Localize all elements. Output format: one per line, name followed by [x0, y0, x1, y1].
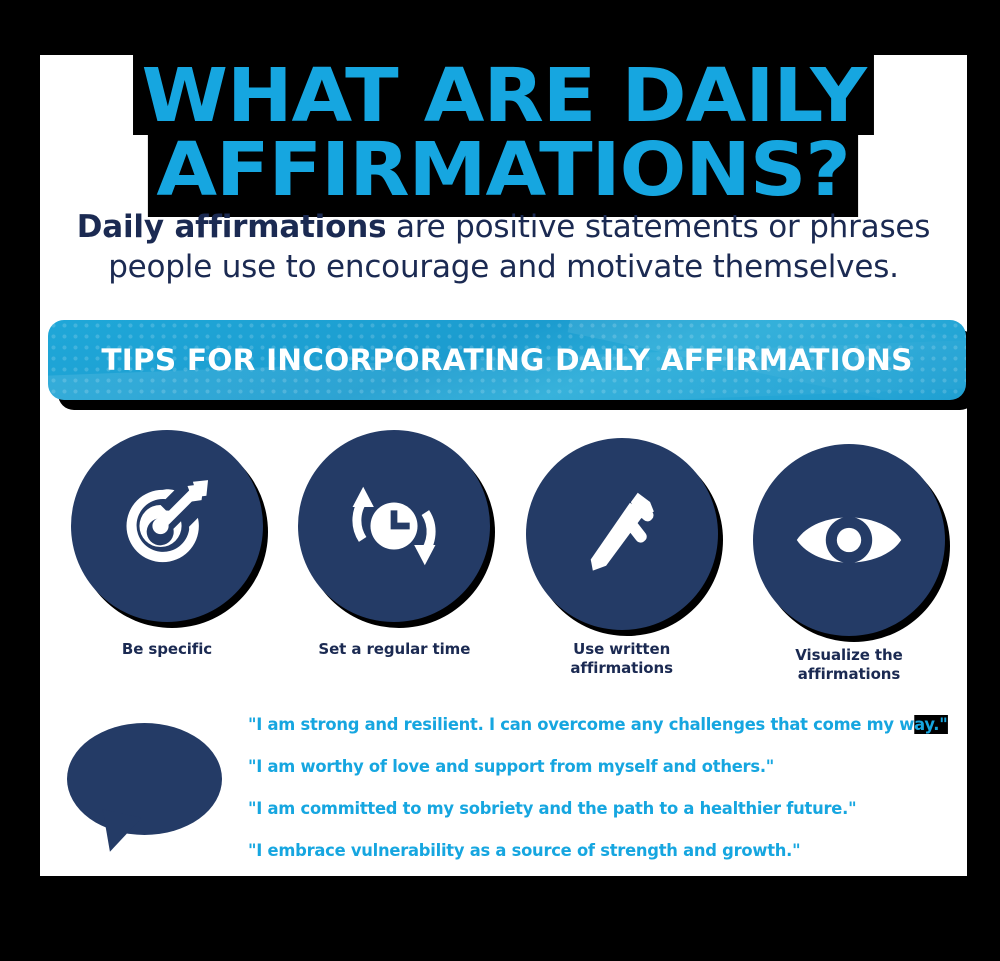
- tip-item-visualize-affirmations: Visualize theaffirmations: [740, 444, 958, 684]
- pen-icon: [569, 481, 675, 587]
- quotes-list: "I am strong and resilient. I can overco…: [248, 715, 967, 883]
- infographic-root: WHAT ARE DAILY AFFIRMATIONS? Daily affir…: [0, 0, 1000, 961]
- quote-text-main: "I am strong and resilient. I can overco…: [248, 715, 914, 734]
- content-card: WHAT ARE DAILY AFFIRMATIONS? Daily affir…: [40, 55, 967, 876]
- tip-label-be-specific: Be specific: [122, 640, 212, 659]
- tip-label-line-2: affirmations: [570, 659, 673, 677]
- subtitle-bold-part: Daily affirmations: [77, 209, 387, 245]
- tip-item-set-regular-time: Set a regular time: [285, 430, 503, 684]
- tip-label-line-1: Visualize the: [795, 646, 902, 664]
- quote-item: "I embrace vulnerability as a source of …: [248, 841, 960, 860]
- title-line-2: AFFIRMATIONS?: [148, 135, 858, 217]
- quote-item: "I am committed to my sobriety and the p…: [248, 799, 960, 818]
- tip-icon-circle: [753, 444, 945, 636]
- clock-refresh-icon: [338, 470, 450, 582]
- banner-label: TIPS FOR INCORPORATING DAILY AFFIRMATION…: [48, 320, 966, 400]
- tip-label-set-regular-time: Set a regular time: [318, 640, 470, 659]
- quotes-section: "I am strong and resilient. I can overco…: [40, 715, 967, 875]
- quote-item: "I am strong and resilient. I can overco…: [248, 715, 960, 734]
- tip-label-line-1: Use written: [573, 640, 670, 658]
- tip-icon-circle: [298, 430, 490, 622]
- tip-label-use-written-affirmations: Use writtenaffirmations: [570, 640, 673, 678]
- tip-icon-circle: [526, 438, 718, 630]
- eye-icon: [791, 482, 907, 598]
- tip-label-visualize-affirmations: Visualize theaffirmations: [795, 646, 902, 684]
- quote-text-highlight: ay.": [914, 715, 947, 734]
- subtitle: Daily affirmations are positive statemen…: [68, 207, 939, 288]
- tip-item-be-specific: Be specific: [58, 430, 276, 684]
- speech-bubble-icon: [67, 723, 222, 835]
- target-icon: [113, 472, 221, 580]
- tips-banner: TIPS FOR INCORPORATING DAILY AFFIRMATION…: [48, 320, 966, 400]
- speech-bubble-tail-icon: [94, 809, 141, 856]
- page-title: WHAT ARE DAILY AFFIRMATIONS?: [40, 55, 967, 217]
- quote-item: "I am worthy of love and support from my…: [248, 757, 960, 776]
- tips-row: Be specific: [58, 430, 958, 684]
- tip-icon-circle: [71, 430, 263, 622]
- tip-item-use-written-affirmations: Use writtenaffirmations: [513, 438, 731, 684]
- title-line-1: WHAT ARE DAILY: [133, 55, 874, 135]
- tip-label-line-2: affirmations: [798, 665, 901, 683]
